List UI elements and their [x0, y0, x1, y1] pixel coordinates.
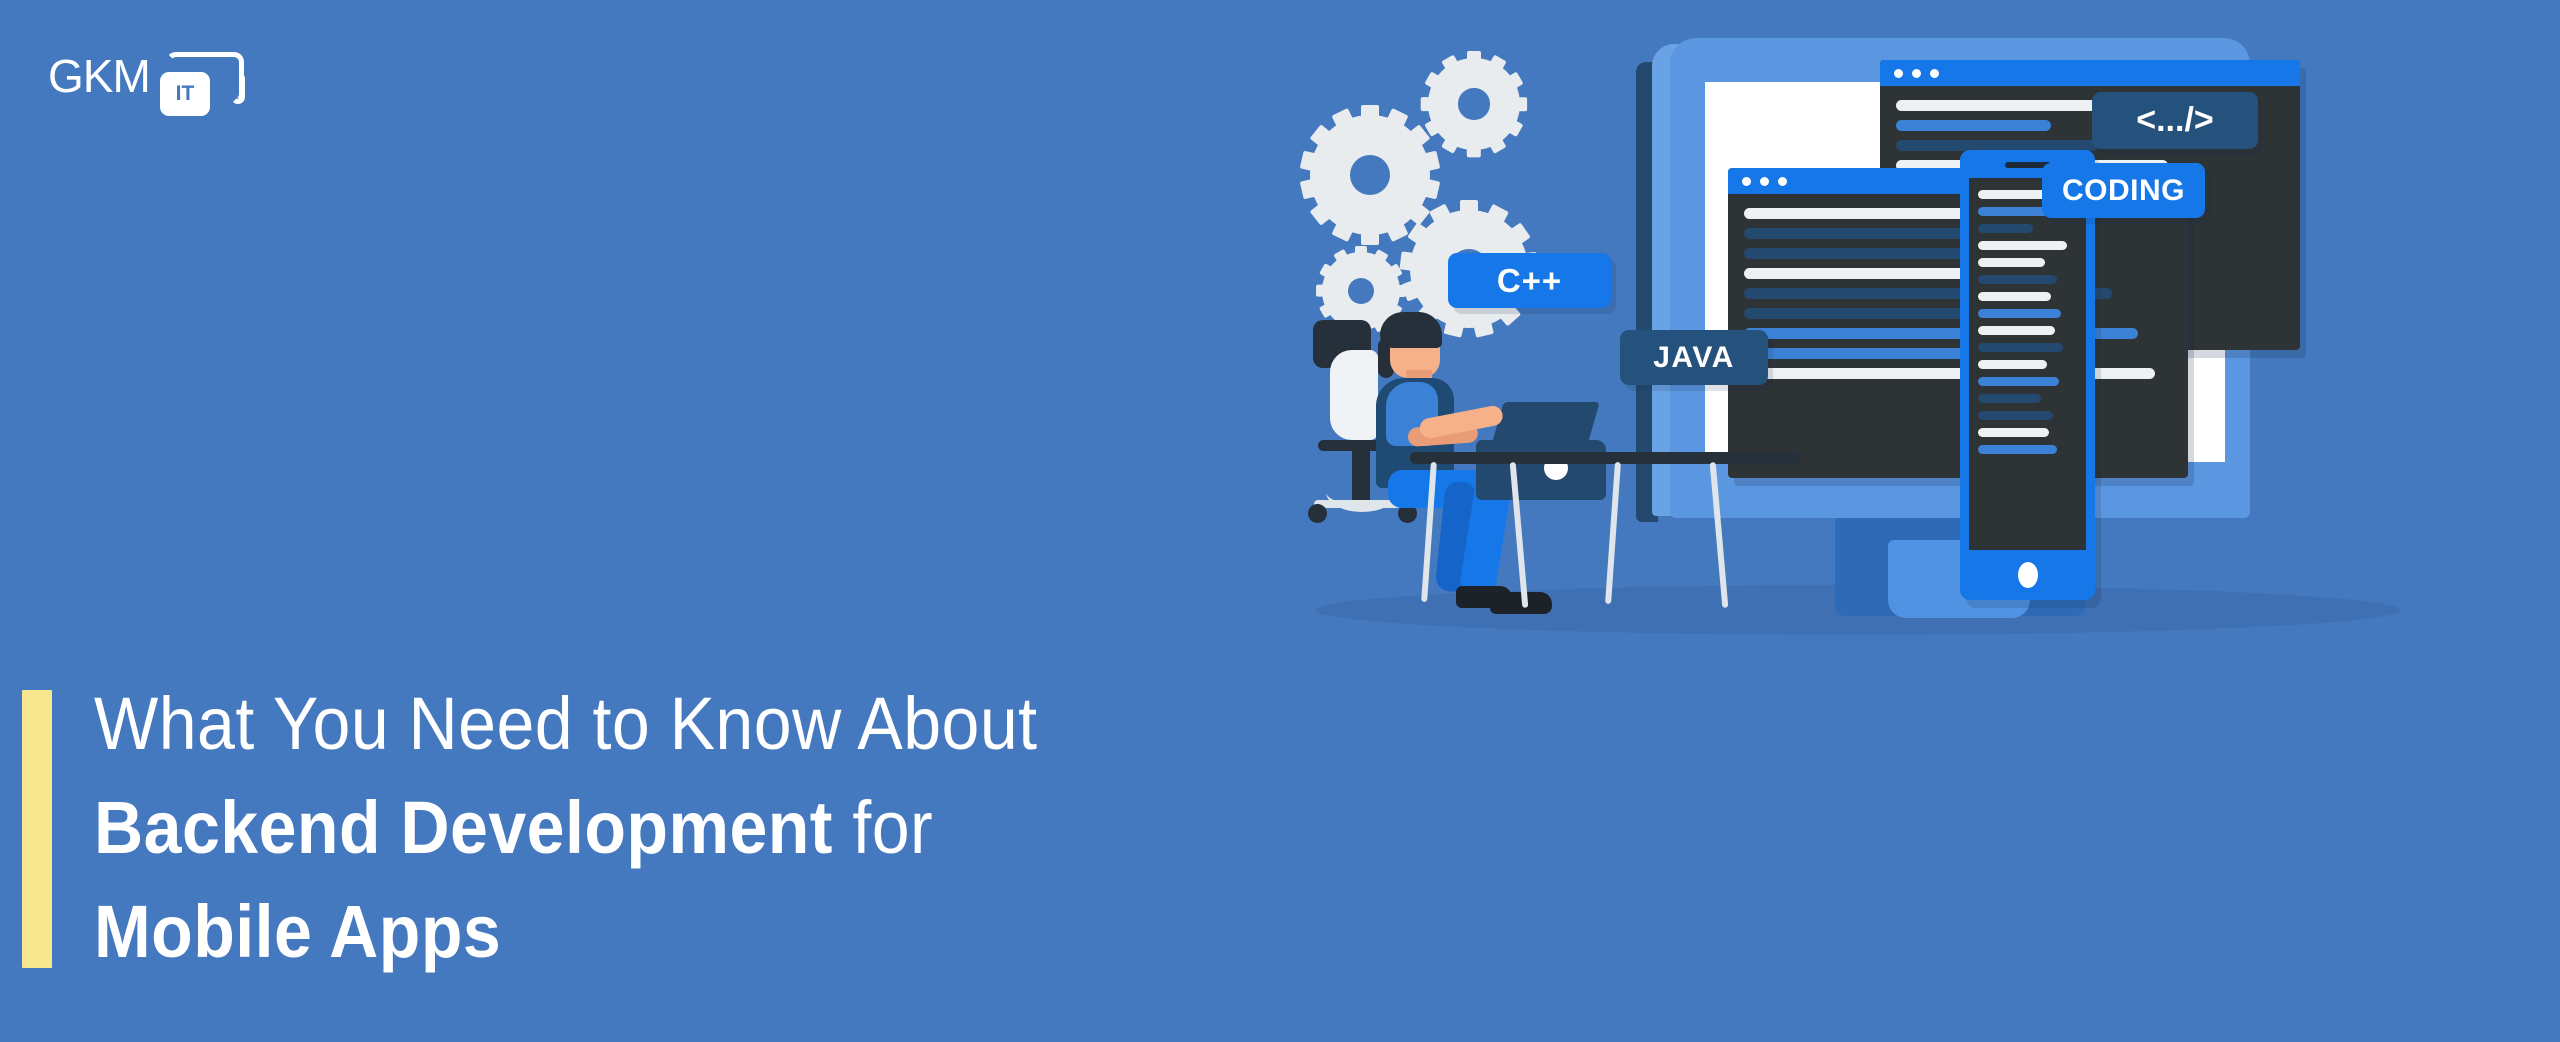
window-dot-icon	[1894, 69, 1903, 78]
gear-hole	[1458, 88, 1489, 119]
gear-tooth	[1444, 311, 1467, 338]
code-window-body	[1728, 194, 2188, 402]
code-line	[1978, 326, 2055, 335]
badge-java: JAVA	[1620, 330, 1768, 385]
window-dot-icon	[1930, 69, 1939, 78]
code-line	[1978, 241, 2067, 250]
code-line	[1978, 309, 2061, 318]
headline-line-3: Mobile Apps	[94, 880, 1244, 984]
headline-accent-bar	[22, 690, 52, 968]
desk-leg	[1605, 462, 1621, 604]
code-line	[1978, 360, 2047, 369]
window-dot-icon	[1912, 69, 1921, 78]
window-dot-icon	[1742, 177, 1751, 186]
gear-tooth	[1400, 252, 1426, 272]
gear-icon	[1428, 58, 1520, 150]
person-hair	[1380, 312, 1442, 348]
code-line	[1978, 428, 2049, 437]
window-dot-icon	[1760, 177, 1769, 186]
code-line	[1896, 120, 2051, 131]
headline-line-1: What You Need to Know About	[94, 672, 1244, 776]
phone-home-button[interactable]	[2018, 562, 2038, 588]
laptop-base	[1476, 440, 1606, 500]
gear-tooth	[1361, 221, 1379, 245]
code-line	[1978, 292, 2051, 301]
code-line	[1978, 224, 2033, 233]
gear-tooth	[1509, 97, 1527, 111]
logo-badge-label: IT	[160, 72, 210, 116]
gear-tooth	[1355, 246, 1367, 262]
gear-tooth	[1300, 151, 1327, 174]
gear-tooth	[1467, 51, 1481, 69]
code-line	[1978, 394, 2041, 403]
window-dot-icon	[1778, 177, 1787, 186]
gear-tooth	[1467, 139, 1481, 157]
badge-cpp: C++	[1448, 253, 1611, 308]
headline-line-2-rest: for	[833, 786, 933, 869]
gear-tooth	[1460, 200, 1478, 224]
gear-tooth	[1361, 105, 1379, 129]
code-line	[1978, 377, 2059, 386]
logo-wordmark: GKM	[48, 50, 150, 102]
phone-screen	[1969, 178, 2086, 550]
code-window-titlebar	[1880, 60, 2300, 86]
code-line	[1744, 248, 1975, 259]
headline-line-2-bold: Backend Development	[94, 786, 833, 869]
logo-it-badge: IT	[160, 72, 210, 116]
badge-coding: CODING	[2042, 163, 2205, 218]
gear-tooth	[1413, 151, 1440, 174]
brand-logo[interactable]: GKM IT	[48, 46, 258, 108]
code-line	[1978, 411, 2053, 420]
logo-bracket-tail-icon	[231, 76, 245, 104]
page-title: What You Need to Know About Backend Deve…	[94, 672, 1344, 984]
chair-backrest	[1330, 350, 1378, 440]
hero-illustration: C++ JAVA CODING <.../>	[1280, 20, 2560, 660]
code-line	[1978, 207, 2049, 216]
badge-code-tag: <.../>	[2092, 92, 2258, 149]
desk-top	[1410, 452, 1800, 464]
code-line	[1978, 275, 2057, 284]
code-line	[1978, 343, 2063, 352]
code-line	[1978, 258, 2045, 267]
gear-tooth	[1421, 97, 1439, 111]
chair-wheel	[1308, 504, 1327, 523]
code-line	[1978, 445, 2057, 454]
gear-tooth	[1316, 285, 1332, 297]
headline-line-2: Backend Development for	[94, 776, 1244, 880]
headline-line-3-bold: Mobile Apps	[94, 890, 501, 973]
